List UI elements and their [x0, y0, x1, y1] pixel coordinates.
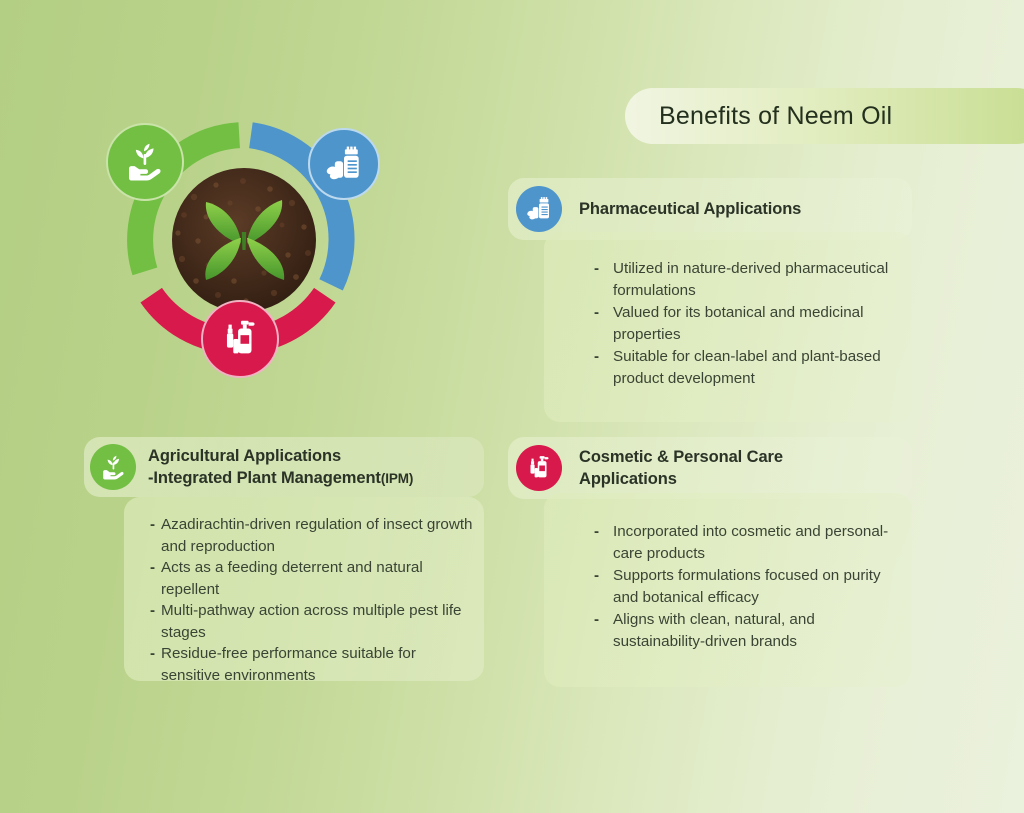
cosmetic-bottles-icon [524, 453, 554, 483]
bullet-marker: - [594, 521, 599, 543]
list-item: - Acts as a feeding deterrent and natura… [150, 557, 474, 600]
list-item-text: Valued for its botanical and medicinal p… [613, 304, 863, 343]
bullet-marker: - [150, 643, 155, 665]
agricultural-heading-line1: Agricultural Applications [148, 445, 413, 467]
page-title: Benefits of Neem Oil [659, 102, 892, 131]
list-item: - Residue-free performance suitable for … [150, 643, 474, 686]
agricultural-heading: Agricultural Applications -Integrated Pl… [148, 445, 413, 490]
agricultural-heading-line2: -Integrated Plant Management(IPM) [148, 467, 413, 489]
applications-donut-diagram [98, 85, 398, 395]
panel-agricultural: Agricultural Applications -Integrated Pl… [84, 437, 484, 497]
donut-node-pharmaceutical[interactable] [308, 128, 380, 200]
agricultural-header: Agricultural Applications -Integrated Pl… [84, 437, 484, 497]
cosmetic-heading: Cosmetic & Personal Care Applications [579, 446, 783, 491]
bullet-marker: - [594, 346, 599, 368]
cosmetic-heading-line2: Applications [579, 468, 783, 490]
medicine-bottle-icon [322, 142, 366, 186]
cosmetic-body: - Incorporated into cosmetic and persona… [544, 493, 912, 687]
title-banner: Benefits of Neem Oil [625, 88, 1024, 144]
list-item-text: Supports formulations focused on purity … [613, 567, 881, 606]
cosmetic-heading-line1: Cosmetic & Personal Care [579, 446, 783, 468]
pharmaceutical-bullet-list: - Utilized in nature-derived pharmaceuti… [594, 258, 892, 389]
cosmetic-bottles-icon [217, 316, 263, 362]
panel-cosmetic: Cosmetic & Personal Care Applications - … [508, 437, 912, 499]
agricultural-body: - Azadirachtin-driven regulation of inse… [124, 497, 484, 681]
bullet-marker: - [150, 514, 155, 536]
list-item-text: Residue-free performance suitable for se… [161, 645, 416, 684]
list-item: - Utilized in nature-derived pharmaceuti… [594, 258, 892, 301]
list-item: - Supports formulations focused on purit… [594, 565, 892, 608]
bullet-marker: - [594, 302, 599, 324]
bullet-marker: - [594, 565, 599, 587]
agricultural-header-icon-badge [90, 444, 136, 490]
bullet-marker: - [594, 258, 599, 280]
donut-node-agricultural[interactable] [106, 123, 184, 201]
neem-seed-mound-icon [172, 168, 316, 312]
list-item-text: Azadirachtin-driven regulation of insect… [161, 516, 473, 555]
bullet-marker: - [594, 609, 599, 631]
list-item-text: Suitable for clean-label and plant-based… [613, 348, 881, 387]
pharmaceutical-header-icon-badge [516, 186, 562, 232]
list-item: - Azadirachtin-driven regulation of inse… [150, 514, 474, 557]
list-item-text: Aligns with clean, natural, and sustaina… [613, 611, 815, 650]
agricultural-bullet-list: - Azadirachtin-driven regulation of inse… [150, 514, 474, 687]
hand-plant-icon [98, 452, 129, 483]
list-item: - Incorporated into cosmetic and persona… [594, 521, 892, 564]
list-item: - Valued for its botanical and medicinal… [594, 302, 892, 345]
infographic-canvas: Benefits of Neem Oil [0, 0, 1024, 813]
list-item-text: Acts as a feeding deterrent and natural … [161, 559, 423, 598]
cosmetic-bullet-list: - Incorporated into cosmetic and persona… [594, 521, 892, 652]
list-item: - Multi-pathway action across multiple p… [150, 600, 474, 643]
panel-pharmaceutical: Pharmaceutical Applications - Utilized i… [508, 178, 912, 240]
cosmetic-header-icon-badge [516, 445, 562, 491]
pharmaceutical-body: - Utilized in nature-derived pharmaceuti… [544, 232, 912, 422]
agricultural-heading-abbrev: (IPM) [381, 471, 414, 486]
agricultural-heading-line2-prefix: -Integrated Plant Management [148, 469, 381, 487]
list-item: - Aligns with clean, natural, and sustai… [594, 609, 892, 652]
list-item: - Suitable for clean-label and plant-bas… [594, 346, 892, 389]
bullet-marker: - [150, 600, 155, 622]
donut-node-cosmetic[interactable] [201, 300, 279, 378]
pharmaceutical-heading: Pharmaceutical Applications [579, 198, 801, 220]
list-item-text: Incorporated into cosmetic and personal-… [613, 523, 888, 562]
cosmetic-header: Cosmetic & Personal Care Applications [508, 437, 912, 499]
hand-plant-icon [121, 138, 169, 186]
list-item-text: Multi-pathway action across multiple pes… [161, 602, 462, 641]
bullet-marker: - [150, 557, 155, 579]
medicine-bottle-icon [524, 194, 554, 224]
list-item-text: Utilized in nature-derived pharmaceutica… [613, 260, 888, 299]
pharmaceutical-header: Pharmaceutical Applications [508, 178, 912, 240]
